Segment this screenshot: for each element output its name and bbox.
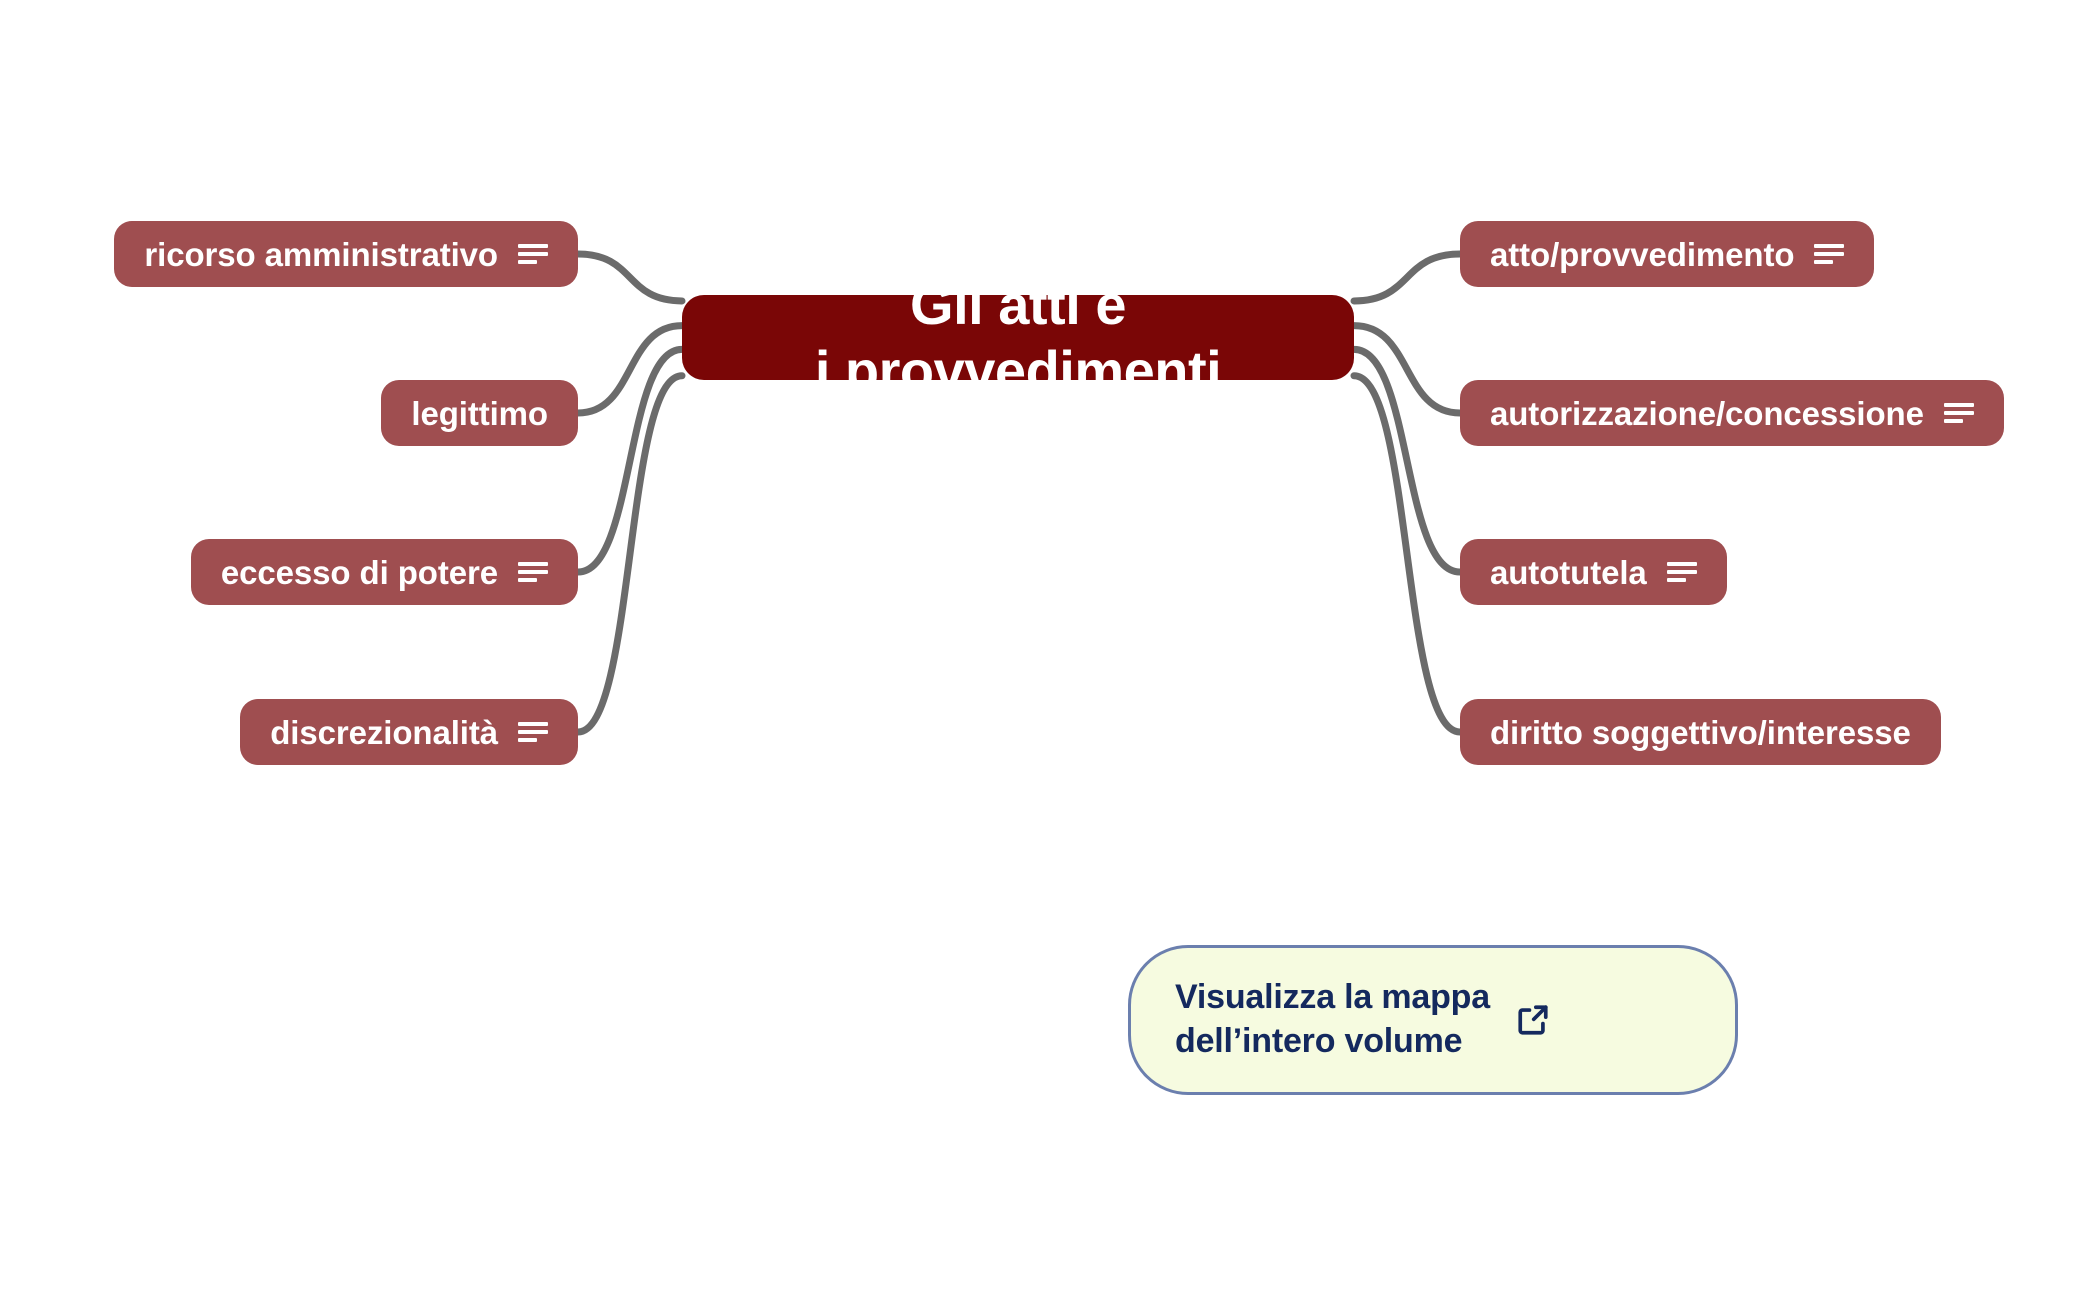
connector-discrezionalita bbox=[578, 376, 682, 732]
view-full-volume-map-label: Visualizza la mappa dell’intero volume bbox=[1175, 976, 1490, 1063]
branch-node-autotutela[interactable]: autotutela bbox=[1460, 539, 1727, 605]
branch-label: atto/provvedimento bbox=[1490, 238, 1794, 271]
external-link-icon[interactable] bbox=[1516, 1003, 1550, 1037]
central-node-line-3: i provvedimenti bbox=[815, 338, 1221, 404]
branch-node-legittimo[interactable]: legittimo bbox=[381, 380, 578, 446]
connector-eccesso-di-potere bbox=[578, 349, 682, 572]
central-node-line-4: amministrativi bbox=[832, 403, 1205, 469]
connector-diritto-soggettivo-interesse bbox=[1354, 376, 1460, 732]
notes-icon[interactable] bbox=[1667, 561, 1697, 583]
connector-autotutela bbox=[1354, 349, 1460, 572]
central-node[interactable]: VI. Gli atti e i provvedimenti amministr… bbox=[682, 295, 1354, 380]
branch-node-discrezionalita[interactable]: discrezionalità bbox=[240, 699, 578, 765]
connector-atto-provvedimento bbox=[1354, 254, 1460, 301]
connector-autorizzazione-concessione bbox=[1354, 326, 1460, 413]
notes-icon[interactable] bbox=[518, 721, 548, 743]
connector-layer bbox=[0, 0, 2099, 1300]
central-node-line-1: VI. bbox=[985, 206, 1052, 272]
branch-label: discrezionalità bbox=[270, 716, 498, 749]
branch-label: legittimo bbox=[411, 397, 548, 430]
branch-node-eccesso-di-potere[interactable]: eccesso di potere bbox=[191, 539, 578, 605]
notes-icon[interactable] bbox=[1944, 402, 1974, 424]
mindmap-canvas: ricorso amministrativo legittimo eccesso… bbox=[0, 0, 2099, 1300]
connector-legittimo bbox=[578, 326, 682, 413]
central-node-line-2: Gli atti e bbox=[910, 272, 1126, 338]
branch-node-atto-provvedimento[interactable]: atto/provvedimento bbox=[1460, 221, 1874, 287]
view-full-volume-map-button[interactable]: Visualizza la mappa dell’intero volume bbox=[1128, 945, 1738, 1095]
branch-label: autorizzazione/concessione bbox=[1490, 397, 1924, 430]
branch-label: diritto soggettivo/interesse bbox=[1490, 716, 1911, 749]
branch-label: autotutela bbox=[1490, 556, 1647, 589]
notes-icon[interactable] bbox=[518, 243, 548, 265]
connector-ricorso-amministrativo bbox=[578, 254, 682, 301]
branch-node-diritto-soggettivo-interesse[interactable]: diritto soggettivo/interesse bbox=[1460, 699, 1941, 765]
notes-icon[interactable] bbox=[1814, 243, 1844, 265]
branch-label: eccesso di potere bbox=[221, 556, 498, 589]
branch-node-ricorso-amministrativo[interactable]: ricorso amministrativo bbox=[114, 221, 578, 287]
branch-node-autorizzazione-concessione[interactable]: autorizzazione/concessione bbox=[1460, 380, 2004, 446]
notes-icon[interactable] bbox=[518, 561, 548, 583]
branch-label: ricorso amministrativo bbox=[144, 238, 498, 271]
